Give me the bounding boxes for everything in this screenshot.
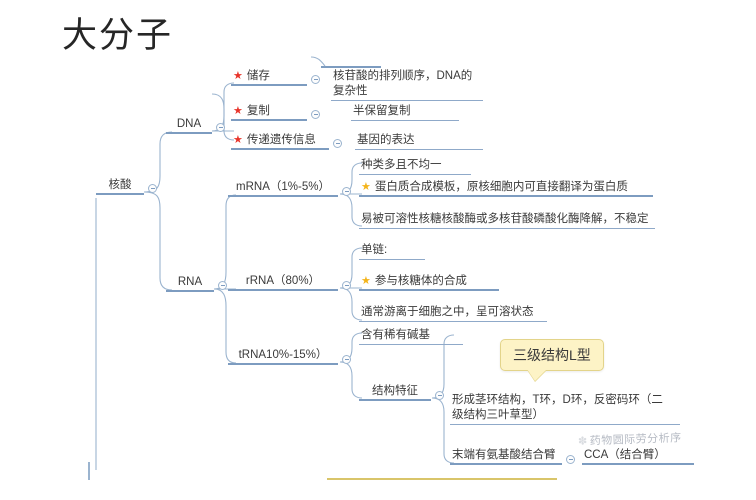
node-rrna-detail-single-strand[interactable]: 单链:: [359, 243, 425, 260]
collapse-toggle-icon-structure-features[interactable]: [435, 391, 444, 400]
node-detail-text: 半保留复制: [353, 104, 411, 119]
node-label: 复制: [247, 104, 270, 119]
node-dna-storage[interactable]: ★ 储存: [231, 69, 307, 86]
node-detail-text: 通常游离于细胞之中，呈可溶状态: [361, 305, 534, 320]
node-trna-detail-rare-base[interactable]: 含有稀有碱基: [359, 328, 463, 345]
star-icon: ★: [233, 106, 243, 117]
node-detail-text: 单链:: [361, 243, 387, 258]
slide-canvas: 大分子 核酸 DNA ★ 储存 核苷酸的排列顺序，DNA的复杂性 ★ 复制 半保…: [0, 0, 756, 500]
collapse-toggle-icon-rna[interactable]: [218, 281, 227, 290]
collapse-toggle-icon-rrna[interactable]: [342, 281, 351, 290]
node-dna[interactable]: DNA: [166, 117, 212, 134]
collapse-toggle-icon-acceptor-arm[interactable]: [566, 455, 575, 464]
collapse-toggle-icon-dna-storage[interactable]: [311, 75, 320, 84]
watermark-mark-icon: ✽: [578, 435, 588, 448]
node-label: tRNA10%-15%）: [239, 348, 328, 363]
node-dna-replication-detail[interactable]: 半保留复制: [351, 104, 459, 121]
star-icon: ★: [361, 182, 371, 193]
watermark-text: 药物圆际劳分析序: [590, 432, 682, 447]
node-detail-text: 参与核糖体的合成: [375, 274, 467, 289]
star-icon: ★: [361, 276, 371, 287]
node-dna-replication[interactable]: ★ 复制: [231, 104, 307, 121]
node-mrna-detail-variety[interactable]: 种类多且不均一: [359, 158, 471, 175]
collapse-toggle-icon-dna[interactable]: [216, 123, 225, 132]
node-dna-storage-detail[interactable]: 核苷酸的排列顺序，DNA的复杂性: [331, 69, 483, 101]
star-icon: ★: [233, 71, 243, 82]
node-detail-text: 形成茎环结构，T环，D环，反密码环（二 级结构三叶草型）: [452, 393, 663, 423]
node-label: 储存: [247, 69, 270, 84]
star-icon: ★: [233, 135, 243, 146]
collapse-toggle-icon-dna-genetic-info[interactable]: [333, 139, 342, 148]
node-label: rRNA（80%）: [246, 274, 320, 289]
node-label: DNA: [177, 117, 201, 132]
node-label: 核酸: [109, 178, 132, 193]
watermark: ✽药物圆际劳分析序: [578, 432, 682, 449]
node-detail-text: 易被可溶性核糖核酸酶或多核苷酸磷酸化酶降解，不稳定: [361, 212, 649, 227]
node-mrna-detail-degradation[interactable]: 易被可溶性核糖核酸酶或多核苷酸磷酸化酶降解，不稳定: [359, 212, 655, 229]
node-trna[interactable]: tRNA10%-15%）: [228, 348, 338, 365]
gold-separator-line: [327, 478, 557, 480]
node-detail-text: 基因的表达: [357, 133, 415, 148]
node-detail-text: 蛋白质合成模板，原核细胞内可直接翻译为蛋白质: [375, 180, 628, 195]
node-structure-detail-cca[interactable]: CCA（结合臂）: [582, 448, 694, 465]
node-label: 结构特征: [372, 384, 418, 399]
node-rrna[interactable]: rRNA（80%）: [228, 274, 338, 291]
node-label: mRNA（1%-5%）: [236, 180, 330, 195]
collapse-toggle-icon-root[interactable]: [148, 184, 157, 193]
node-label: 末端有氨基酸结合臂: [452, 448, 556, 463]
node-dna-genetic-info[interactable]: ★ 传递遗传信息: [231, 133, 329, 150]
page-title: 大分子: [62, 14, 173, 58]
node-detail-text: 含有稀有碱基: [361, 328, 430, 343]
callout-label: 三级结构L型: [513, 347, 591, 363]
orphan-node-underline: [321, 66, 381, 68]
collapse-toggle-icon-mrna[interactable]: [342, 187, 351, 196]
node-rrna-detail-soluble[interactable]: 通常游离于细胞之中，呈可溶状态: [359, 305, 547, 322]
node-structure-detail-stem-loop[interactable]: 形成茎环结构，T环，D环，反密码环（二 级结构三叶草型）: [450, 393, 680, 425]
root-stem-tick: [88, 462, 90, 480]
collapse-toggle-icon-dna-replication[interactable]: [311, 110, 320, 119]
node-rrna-detail-ribosome[interactable]: ★ 参与核糖体的合成: [359, 274, 499, 291]
node-structure-detail-acceptor-arm[interactable]: 末端有氨基酸结合臂: [450, 448, 562, 465]
node-label: 传递遗传信息: [247, 133, 316, 148]
callout-tertiary-structure[interactable]: 三级结构L型: [500, 339, 604, 371]
callout-tail: [527, 369, 547, 381]
node-detail-text: 核苷酸的排列顺序，DNA的复杂性: [333, 69, 481, 99]
collapse-toggle-icon-trna[interactable]: [342, 355, 351, 364]
node-root-nucleic-acid[interactable]: 核酸: [96, 178, 144, 195]
node-mrna-detail-template[interactable]: ★ 蛋白质合成模板，原核细胞内可直接翻译为蛋白质: [359, 180, 653, 197]
orphan-node-connector: [310, 56, 326, 68]
node-mrna[interactable]: mRNA（1%-5%）: [228, 180, 338, 197]
node-trna-structure-features[interactable]: 结构特征: [359, 384, 431, 401]
node-detail-text: CCA（结合臂）: [584, 448, 666, 463]
node-rna[interactable]: RNA: [166, 275, 214, 292]
node-detail-text: 种类多且不均一: [361, 158, 442, 173]
node-label: RNA: [178, 275, 202, 290]
node-dna-genetic-info-detail[interactable]: 基因的表达: [355, 133, 483, 150]
